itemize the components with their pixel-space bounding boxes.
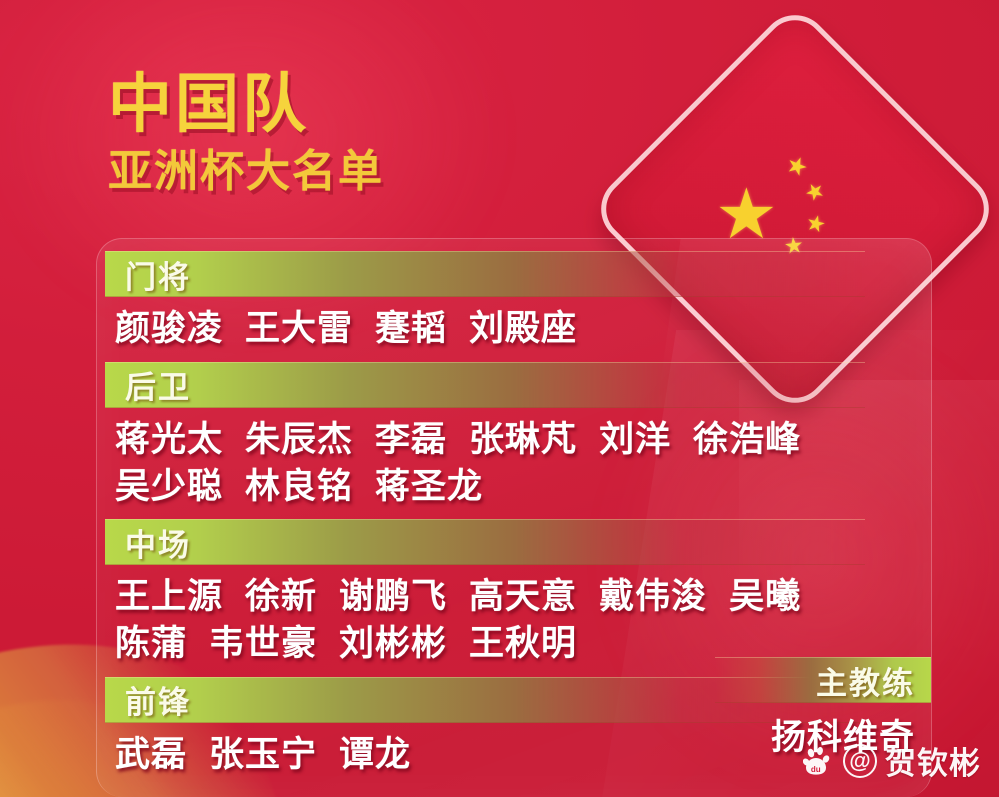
player-group-goalkeeper: 颜骏凌 王大雷 蹇韬 刘殿座	[97, 299, 887, 362]
player-group-defender: 蒋光太 朱辰杰 李磊 张琳芃 刘洋 徐浩峰 吴少聪 林良铭 蒋圣龙	[97, 410, 887, 520]
player-name: 颜骏凌	[115, 307, 223, 352]
player-name: 刘殿座	[469, 307, 577, 352]
player-name: 谭龙	[339, 733, 411, 778]
section-header-defender: 后卫	[105, 362, 865, 408]
player-name: 张琳芃	[469, 418, 577, 463]
svg-text:du: du	[811, 765, 821, 774]
section-label: 主教练	[816, 658, 932, 703]
section-header-head-coach: 主教练	[715, 657, 932, 703]
player-name: 吴少聪	[115, 465, 223, 510]
player-name: 刘彬彬	[339, 622, 447, 667]
player-name: 王大雷	[245, 307, 353, 352]
player-name: 高天意	[469, 575, 577, 620]
section-header-midfielder: 中场	[105, 519, 865, 565]
player-name: 王秋明	[469, 622, 577, 667]
player-name: 王上源	[115, 575, 223, 620]
player-name: 陈蒲	[115, 622, 187, 667]
flag-star-small-3: ★	[804, 211, 828, 237]
flag-star-small-1: ★	[782, 152, 811, 182]
player-name: 蒋圣龙	[375, 465, 483, 510]
page-subtitle: 亚洲杯大名单	[108, 150, 384, 194]
player-name: 蒋光太	[115, 418, 223, 463]
flag-star-small-2: ★	[800, 177, 829, 207]
player-name: 徐新	[245, 575, 317, 620]
section-label: 门将	[105, 252, 191, 297]
roster-list: 门将 颜骏凌 王大雷 蹇韬 刘殿座 后卫 蒋光太 朱辰杰 李磊 张琳芃 刘洋 徐…	[97, 239, 931, 797]
player-name: 武磊	[115, 733, 187, 778]
player-name: 林良铭	[245, 465, 353, 510]
section-label: 后卫	[105, 362, 191, 407]
player-name: 吴曦	[729, 575, 801, 620]
player-name: 韦世豪	[209, 622, 317, 667]
roster-panel: 门将 颜骏凌 王大雷 蹇韬 刘殿座 后卫 蒋光太 朱辰杰 李磊 张琳芃 刘洋 徐…	[96, 238, 932, 797]
baidu-paw-icon: du	[803, 745, 835, 777]
player-name: 刘洋	[599, 418, 671, 463]
watermark: du @ 贺钦彬	[803, 738, 981, 783]
section-label: 中场	[105, 520, 191, 565]
player-name: 谢鹏飞	[339, 575, 447, 620]
player-name: 张玉宁	[209, 733, 317, 778]
player-name: 李磊	[375, 418, 447, 463]
poster-canvas: 中国队 亚洲杯大名单 ★ ★ ★ ★ ★ 门将 颜骏凌 王大雷 蹇韬	[0, 0, 999, 797]
section-label: 前锋	[105, 677, 191, 722]
player-name: 徐浩峰	[693, 418, 801, 463]
player-name: 朱辰杰	[245, 418, 353, 463]
watermark-handle: 贺钦彬	[885, 738, 981, 783]
section-header-goalkeeper: 门将	[105, 251, 865, 297]
at-symbol-icon: @	[843, 744, 877, 778]
player-name: 戴伟浚	[599, 575, 707, 620]
poster-heading: 中国队 亚洲杯大名单	[108, 72, 384, 194]
player-name: 蹇韬	[375, 307, 447, 352]
page-title: 中国队	[108, 72, 384, 136]
